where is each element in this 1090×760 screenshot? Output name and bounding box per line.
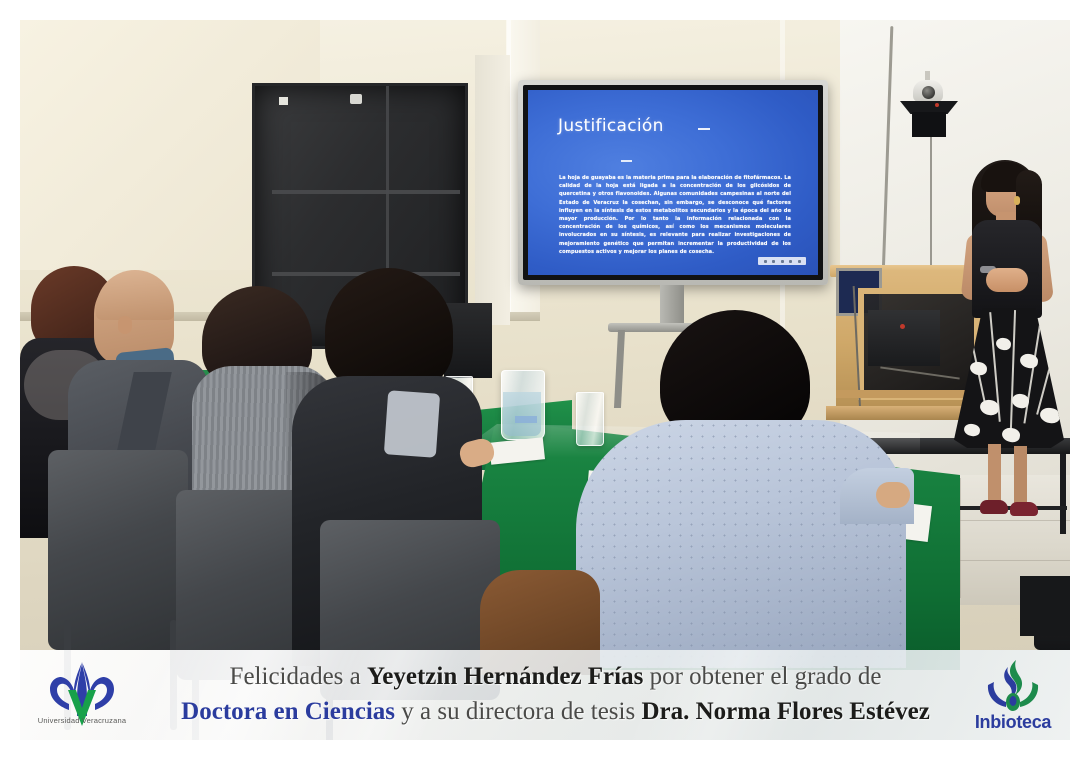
cabinet-shelf: [272, 190, 460, 194]
skirt-flower-motif: [1001, 427, 1021, 443]
degree-name: Doctora en Ciencias: [181, 698, 395, 725]
presenter-bracelet: [1026, 272, 1039, 278]
announcement-card: Justificación La hoja de guayaba es la m…: [0, 0, 1090, 760]
far-table: [1020, 576, 1070, 636]
inbioteca-logo-caption: Inbioteca: [950, 712, 1076, 733]
graduate-name: Yeyetzin Hernández Frías: [367, 663, 643, 690]
skirt-flower-motif: [1043, 333, 1061, 348]
slide-title: Justificación: [558, 116, 664, 136]
control-dot-icon: [781, 260, 784, 263]
camera-cable: [930, 137, 932, 267]
control-dot-icon: [764, 260, 767, 263]
presenter-leg: [1014, 446, 1027, 506]
cabinet-latch: [350, 94, 362, 104]
control-dot-icon: [772, 260, 775, 263]
audience-member-shirt: [384, 390, 440, 457]
banner-tail-text: por obtener el grado de: [643, 663, 881, 690]
banner-message: Felicidades a Yeyetzin Hernández Frías p…: [148, 652, 963, 738]
camera-lens-icon: [922, 86, 935, 99]
pitcher-label: [515, 416, 537, 423]
presentation-slide: Justificación La hoja de guayaba es la m…: [528, 90, 818, 275]
equipment-power-led: [900, 324, 905, 329]
podium-av-equipment: [868, 310, 940, 366]
banner-lead-text: Felicidades a: [230, 663, 367, 690]
water-glass: [576, 392, 604, 446]
camera-wall-bracket: [912, 112, 946, 137]
skirt-flower-motif: [1039, 407, 1061, 425]
inbioteca-left-leaf: [988, 682, 1006, 707]
shirt-pattern: [576, 420, 906, 668]
pitcher-water-level: [503, 392, 541, 436]
presenter-figure: [950, 160, 1070, 540]
uv-logo-caption: Universidad Veracruzana: [20, 716, 144, 725]
skirt-flower-motif: [995, 337, 1012, 351]
presenter-earring: [1014, 196, 1020, 205]
inbioteca-right-leaf: [1020, 682, 1038, 707]
audience-member-ear: [118, 316, 132, 334]
slide-body-text: La hoja de guayaba es la materia prima p…: [559, 174, 791, 256]
congratulations-banner: Felicidades a Yeyetzin Hernández Frías p…: [20, 650, 1070, 740]
camera-status-led: [935, 103, 939, 107]
presentation-control-bar[interactable]: [758, 257, 806, 265]
control-dot-icon: [798, 260, 801, 263]
banner-line-1: Felicidades a Yeyetzin Hernández Frías p…: [230, 660, 882, 694]
skirt-flower-motif: [1019, 353, 1039, 369]
presenter-shoe: [980, 500, 1008, 514]
slide-bullet-dash: [698, 128, 710, 130]
attendee-foreground-hand: [876, 482, 910, 508]
control-dot-icon: [789, 260, 792, 263]
skirt-flower-motif: [969, 361, 988, 376]
skirt-stem-motif: [1010, 310, 1016, 428]
advisor-name: Dra. Norma Flores Estévez: [641, 698, 929, 725]
skirt-flower-motif: [963, 423, 981, 437]
cabinet-label-tag: [279, 97, 288, 105]
banner-mid-text: y a su directora de tesis: [395, 698, 641, 725]
audience-member-hair: [325, 268, 453, 390]
presenter-shoe: [1010, 502, 1038, 516]
room-door: [475, 55, 510, 325]
inbioteca-drop-core: [1010, 696, 1017, 706]
slide-bullet-dash: [621, 160, 632, 162]
screen-stand-neck: [660, 285, 684, 325]
inbioteca-logo: [978, 658, 1048, 716]
presenter-leg: [988, 444, 1001, 506]
banner-line-2: Doctora en Ciencias y a su directora de …: [181, 694, 930, 730]
skirt-stem-motif: [1036, 325, 1061, 414]
presenter-floral-skirt: [954, 308, 1064, 448]
event-photograph: Justificación La hoja de guayaba es la m…: [20, 20, 1070, 740]
presenter-hands: [986, 268, 1028, 292]
